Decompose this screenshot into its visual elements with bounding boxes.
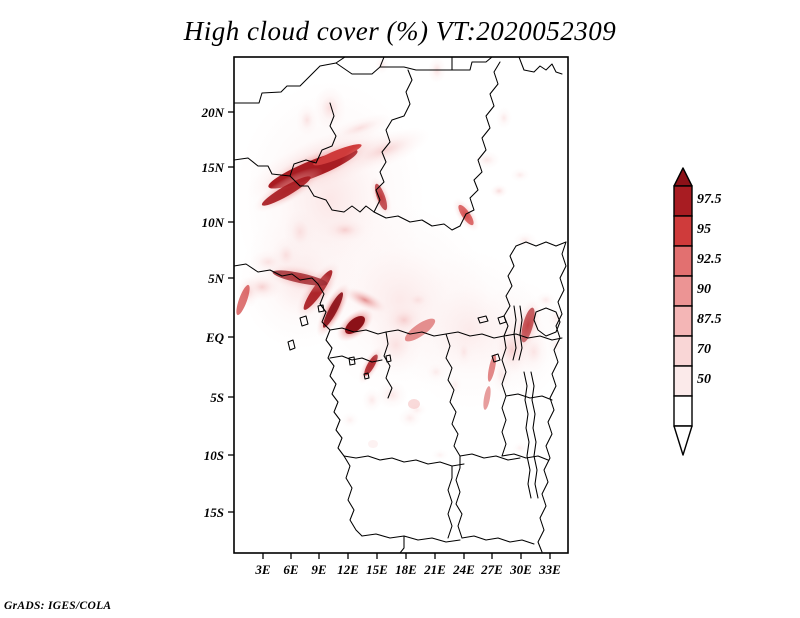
colorbar-label: 90 [697, 282, 711, 297]
colorbar-labels: 97.5 95 92.5 90 87.5 70 50 [697, 192, 722, 387]
xtick-label: 24E [452, 562, 475, 577]
ytick-label: 5N [208, 271, 225, 286]
ytick-label: 15S [204, 505, 224, 520]
colorbar-arrow-top [674, 168, 692, 186]
xtick-label: 33E [538, 562, 561, 577]
ytick-label: 20N [201, 105, 225, 120]
map-figure: 20N 15N 10N 5N EQ 5S 10S 15S 3E 6E 9E 12… [0, 0, 800, 618]
ytick-label: 10S [204, 448, 224, 463]
colorbar-label: 97.5 [697, 192, 722, 207]
colorbar-band [674, 246, 692, 276]
colorbar-label: 95 [697, 222, 711, 237]
xtick-label: 3E [254, 562, 271, 577]
xtick-label: 30E [509, 562, 532, 577]
xtick-label: 27E [480, 562, 503, 577]
colorbar-band [674, 276, 692, 306]
colorbar-band [674, 186, 692, 216]
xtick-label: 12E [337, 562, 359, 577]
ytick-label: 15N [202, 160, 225, 175]
colorbar-label: 50 [697, 372, 711, 387]
xtick-label: 18E [395, 562, 417, 577]
ytick-label: 10N [202, 215, 225, 230]
ytick-label: 5S [210, 390, 224, 405]
colorbar: 97.5 95 92.5 90 87.5 70 50 [674, 168, 722, 455]
colorbar-label: 70 [697, 342, 711, 357]
ytick-label: EQ [205, 330, 225, 345]
y-axis-labels: 20N 15N 10N 5N EQ 5S 10S 15S [201, 105, 225, 520]
xtick-label: 6E [283, 562, 299, 577]
colorbar-band [674, 366, 692, 396]
colorbar-band [674, 336, 692, 366]
xtick-label: 21E [423, 562, 446, 577]
colorbar-arrow-bottom [674, 426, 692, 455]
colorbar-band [674, 216, 692, 246]
cloud-cover-field [234, 56, 568, 553]
colorbar-band [674, 306, 692, 336]
x-axis-labels: 3E 6E 9E 12E 15E 18E 21E 24E 27E 30E 33E [254, 562, 561, 577]
colorbar-label: 87.5 [697, 312, 722, 327]
colorbar-band [674, 396, 692, 426]
colorbar-label: 92.5 [697, 252, 722, 267]
xtick-label: 15E [366, 562, 388, 577]
xtick-label: 9E [311, 562, 327, 577]
